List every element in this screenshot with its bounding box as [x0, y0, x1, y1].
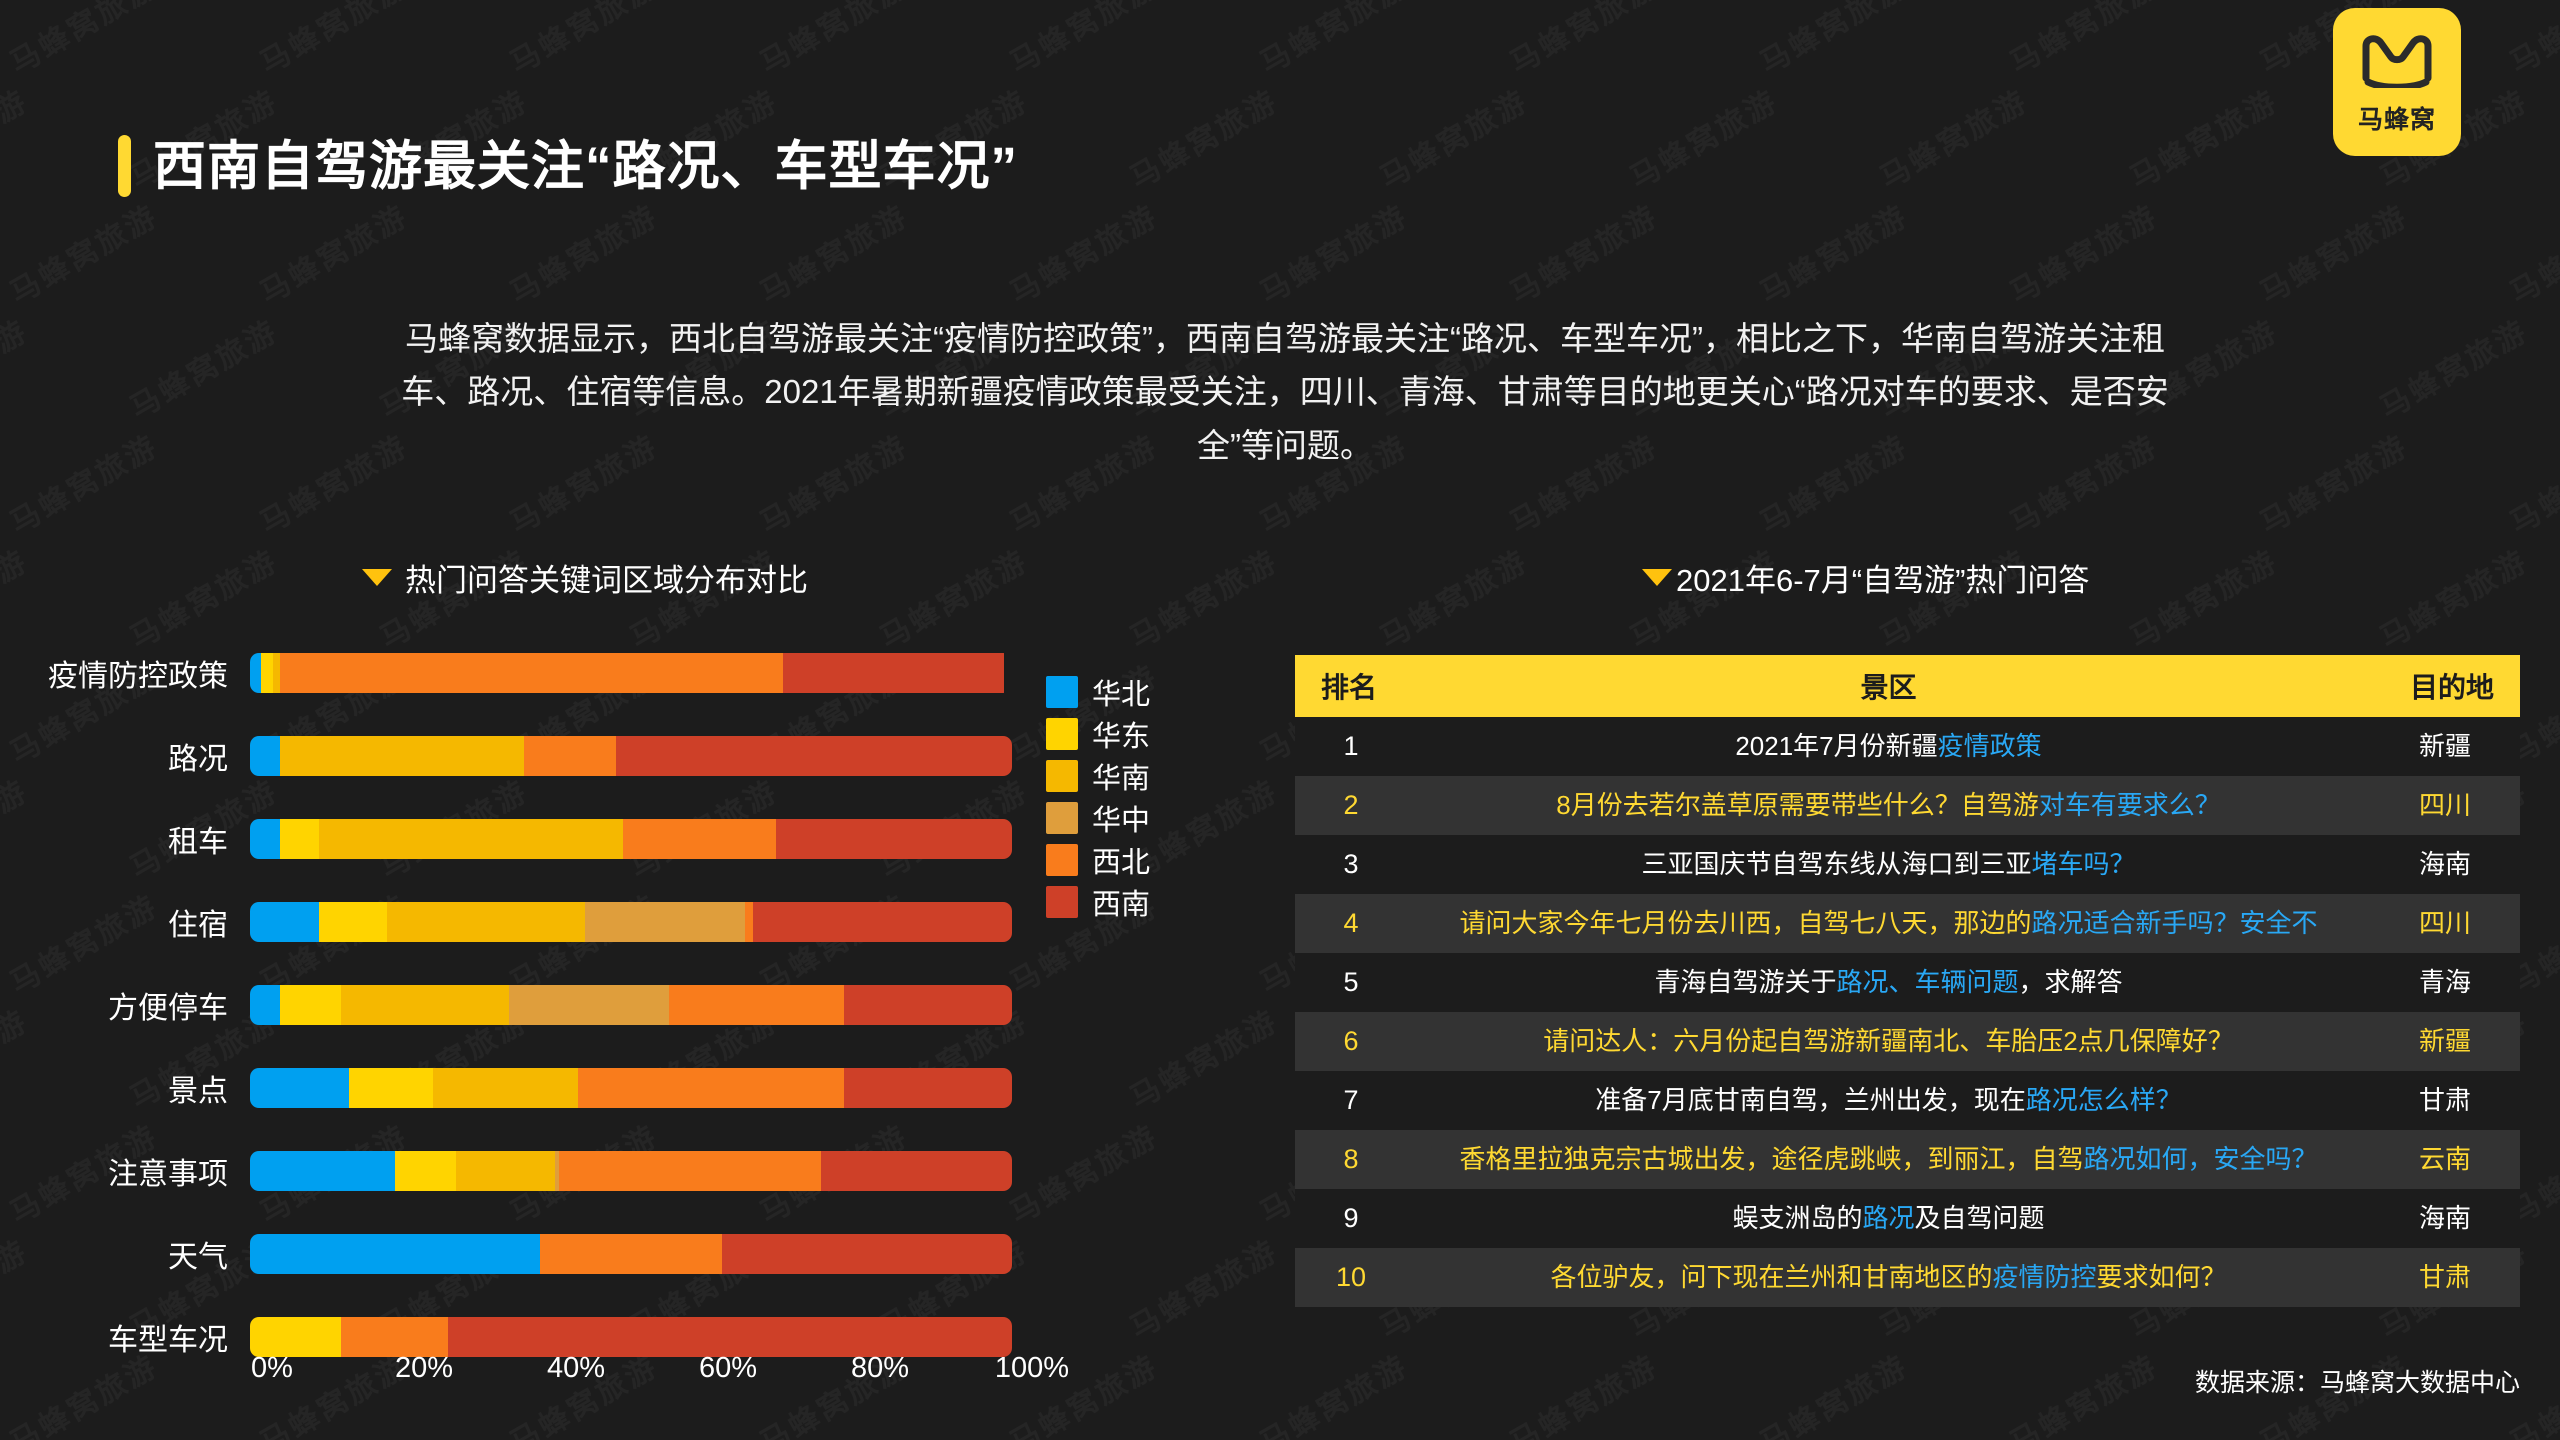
bar-segment-西南: [753, 902, 1012, 942]
table-header-row: 排名 景区 目的地: [1295, 655, 2520, 717]
cell-destination: 四川: [2370, 909, 2520, 938]
keyword-highlight: 疫情政策: [1938, 731, 2042, 761]
question-text: 青海自驾游关于: [1654, 967, 1836, 997]
table-row[interactable]: 12021年7月份新疆疫情政策新疆: [1295, 717, 2520, 776]
bar-segment-西南: [776, 819, 1012, 859]
watermark-text: 马蜂窝旅游: [1120, 77, 1285, 198]
bar-segment-西南: [844, 1068, 1012, 1108]
bar-segment-西北: [669, 985, 844, 1025]
x-axis-tick-label: 100%: [995, 1352, 1069, 1385]
cell-question: 准备7月底甘南自驾，兰州出发，现在路况怎么样？: [1407, 1086, 2370, 1115]
table-row[interactable]: 9蜈支洲岛的路况及自驾问题海南: [1295, 1189, 2520, 1248]
watermark-text: 马蜂窝旅游: [1250, 0, 1415, 82]
mafengwo-logo: 马蜂窝: [2333, 8, 2461, 156]
bar-segment-华东: [250, 1317, 341, 1357]
bar-segment-华南: [433, 1068, 578, 1108]
bar-category-label: 疫情防控政策: [0, 651, 250, 695]
bar-track: [250, 819, 1012, 859]
legend-swatch: [1046, 718, 1078, 750]
watermark-text: 马蜂窝旅游: [0, 422, 165, 543]
chart-section-header: 热门问答关键词区域分布对比: [362, 555, 808, 600]
triangle-down-icon: [1642, 569, 1672, 586]
legend-swatch: [1046, 760, 1078, 792]
keyword-highlight: 路况适合新手吗？安全不: [2032, 908, 2318, 938]
watermark-text: 马蜂窝旅游: [2500, 422, 2560, 543]
watermark-text: 马蜂窝旅游: [1620, 77, 1785, 198]
bar-row: 方便停车: [0, 982, 1060, 1028]
watermark-text: 马蜂窝旅游: [750, 192, 915, 313]
keyword-highlight: 对车有要求么？: [2039, 790, 2221, 820]
cell-question: 青海自驾游关于路况、车辆问题，求解答: [1407, 968, 2370, 997]
bar-segment-西南: [722, 1234, 1012, 1274]
table-row[interactable]: 8香格里拉独克宗古城出发，途径虎跳峡，到丽江，自驾路况如何，安全吗？云南: [1295, 1130, 2520, 1189]
cell-destination: 海南: [2370, 850, 2520, 879]
bar-segment-西南: [783, 653, 1004, 693]
watermark-text: 马蜂窝旅游: [1870, 77, 2035, 198]
logo-wordmark: 马蜂窝: [2358, 100, 2436, 136]
bar-segment-华中: [585, 902, 745, 942]
bar-segment-华南: [273, 653, 281, 693]
cell-rank: 4: [1295, 909, 1407, 939]
bar-track: [250, 736, 1012, 776]
watermark-text: 马蜂窝旅游: [500, 0, 665, 82]
cell-question: 请问大家今年七月份去川西，自驾七八天，那边的路况适合新手吗？安全不: [1407, 909, 2370, 938]
watermark-text: 马蜂窝旅游: [2120, 537, 2285, 658]
legend-item-华东[interactable]: 华东: [1046, 713, 1150, 755]
watermark-text: 马蜂窝旅游: [1750, 192, 1915, 313]
cell-destination: 四川: [2370, 791, 2520, 820]
watermark-text: 马蜂窝旅游: [2250, 192, 2415, 313]
watermark-text: 马蜂窝旅游: [120, 307, 285, 428]
watermark-text: 马蜂窝旅游: [1500, 0, 1665, 82]
watermark-text: 马蜂窝旅游: [2250, 422, 2415, 543]
bar-segment-华北: [250, 1068, 349, 1108]
watermark-text: 马蜂窝旅游: [2000, 0, 2165, 82]
x-axis-tick-label: 20%: [395, 1352, 453, 1385]
watermark-text: 马蜂窝旅游: [2000, 192, 2165, 313]
bar-segment-华东: [395, 1151, 456, 1191]
cell-question: 三亚国庆节自驾东线从海口到三亚堵车吗？: [1407, 850, 2370, 879]
question-text: 三亚国庆节自驾东线从海口到三亚: [1641, 849, 2031, 879]
bar-segment-华南: [456, 1151, 555, 1191]
legend-label: 华中: [1092, 797, 1150, 839]
watermark-text: 马蜂窝旅游: [1370, 537, 1535, 658]
bar-segment-西北: [559, 1151, 822, 1191]
bar-row: 注意事项: [0, 1148, 1060, 1194]
cell-destination: 青海: [2370, 968, 2520, 997]
cell-destination: 新疆: [2370, 732, 2520, 761]
table-row[interactable]: 3三亚国庆节自驾东线从海口到三亚堵车吗？海南: [1295, 835, 2520, 894]
x-axis-tick-label: 60%: [699, 1352, 757, 1385]
cell-question: 各位驴友，问下现在兰州和甘南地区的疫情防控要求如何？: [1407, 1263, 2370, 1292]
intro-paragraph: 马蜂窝数据显示，西北自驾游最关注“疫情防控政策”，西南自驾游最关注“路况、车型车…: [400, 312, 2170, 472]
question-text: 8月份去若尔盖草原需要带些什么？自驾游: [1556, 790, 2038, 820]
bar-segment-华东: [261, 653, 272, 693]
keyword-highlight: 路况如何，安全吗？: [2084, 1144, 2318, 1174]
bar-track: [250, 985, 1012, 1025]
bar-segment-西南: [616, 736, 1012, 776]
watermark-text: 马蜂窝旅游: [250, 192, 415, 313]
cell-destination: 甘肃: [2370, 1086, 2520, 1115]
bar-segment-西南: [844, 985, 1012, 1025]
bar-category-label: 天气: [0, 1232, 250, 1276]
bar-category-label: 住宿: [0, 900, 250, 944]
cell-destination: 海南: [2370, 1204, 2520, 1233]
bar-category-label: 景点: [0, 1066, 250, 1110]
data-source-note: 数据来源：马蜂窝大数据中心: [2195, 1363, 2520, 1399]
table-section-title: 2021年6-7月“自驾游”热门问答: [1676, 555, 2089, 600]
bar-category-label: 路况: [0, 734, 250, 778]
watermark-text: 马蜂窝旅游: [1250, 192, 1415, 313]
watermark-text: 马蜂窝旅游: [2000, 1342, 2165, 1440]
x-axis-tick-label: 0%: [251, 1352, 293, 1385]
table-row[interactable]: 6请问达人：六月份起自驾游新疆南北、车胎压2点几保障好？新疆: [1295, 1012, 2520, 1071]
bar-segment-华北: [250, 819, 280, 859]
question-text: 准备7月底甘南自驾，兰州出发，现在: [1595, 1085, 2025, 1115]
watermark-text: 马蜂窝旅游: [500, 192, 665, 313]
legend-swatch: [1046, 886, 1078, 918]
table-row[interactable]: 5青海自驾游关于路况、车辆问题，求解答青海: [1295, 953, 2520, 1012]
watermark-text: 马蜂窝旅游: [1000, 0, 1165, 82]
cell-rank: 10: [1295, 1263, 1407, 1293]
bar-segment-华东: [280, 819, 318, 859]
bar-segment-西北: [540, 1234, 723, 1274]
cell-rank: 2: [1295, 791, 1407, 821]
bar-segment-西北: [524, 736, 615, 776]
keyword-highlight: 路况怎么样？: [2026, 1085, 2182, 1115]
table-row[interactable]: 28月份去若尔盖草原需要带些什么？自驾游对车有要求么？四川: [1295, 776, 2520, 835]
watermark-text: 马蜂窝旅游: [250, 0, 415, 82]
keyword-highlight: 堵车吗？: [2032, 849, 2136, 879]
question-text: ，求解答: [2019, 967, 2123, 997]
bar-segment-华北: [250, 1234, 540, 1274]
bar-row: 住宿: [0, 899, 1060, 945]
question-text: 请问达人：六月份起自驾游新疆南北、车胎压2点几保障好？: [1543, 1026, 2233, 1056]
bar-track: [250, 1317, 1012, 1357]
triangle-down-icon: [362, 569, 392, 586]
question-text: 2021年7月份新疆: [1735, 731, 1937, 761]
bar-segment-华南: [341, 985, 509, 1025]
bar-category-label: 注意事项: [0, 1149, 250, 1193]
cell-rank: 6: [1295, 1027, 1407, 1057]
bar-segment-西南: [821, 1151, 1012, 1191]
watermark-text: 马蜂窝旅游: [0, 192, 165, 313]
bar-track: [250, 1068, 1012, 1108]
column-header-rank: 排名: [1295, 666, 1407, 706]
legend-label: 华北: [1092, 671, 1150, 713]
watermark-text: 马蜂窝旅游: [120, 537, 285, 658]
cell-question: 香格里拉独克宗古城出发，途径虎跳峡，到丽江，自驾路况如何，安全吗？: [1407, 1145, 2370, 1174]
question-text: 请问大家今年七月份去川西，自驾七八天，那边的: [1459, 908, 2031, 938]
cell-question: 8月份去若尔盖草原需要带些什么？自驾游对车有要求么？: [1407, 791, 2370, 820]
table-row[interactable]: 4请问大家今年七月份去川西，自驾七八天，那边的路况适合新手吗？安全不四川: [1295, 894, 2520, 953]
table-row[interactable]: 7准备7月底甘南自驾，兰州出发，现在路况怎么样？甘肃: [1295, 1071, 2520, 1130]
mafengwo-crown-m-icon: [2360, 32, 2434, 88]
cell-destination: 云南: [2370, 1145, 2520, 1174]
bar-track: [250, 1234, 1012, 1274]
x-axis-tick-label: 40%: [547, 1352, 605, 1385]
bar-segment-华东: [319, 902, 388, 942]
bar-segment-华北: [250, 1151, 395, 1191]
question-text: 要求如何？: [2097, 1262, 2227, 1292]
legend-label: 华东: [1092, 713, 1150, 755]
watermark-text: 马蜂窝旅游: [2500, 192, 2560, 313]
legend-item-华北[interactable]: 华北: [1046, 671, 1150, 713]
legend-item-华中[interactable]: 华中: [1046, 797, 1150, 839]
cell-question: 请问达人：六月份起自驾游新疆南北、车胎压2点几保障好？: [1407, 1027, 2370, 1056]
legend-swatch: [1046, 844, 1078, 876]
watermark-text: 马蜂窝旅游: [2500, 0, 2560, 82]
question-text: 及自驾问题: [1915, 1203, 2045, 1233]
question-text: 蜈支洲岛的: [1732, 1203, 1862, 1233]
cell-destination: 新疆: [2370, 1027, 2520, 1056]
keyword-highlight: 路况、车辆问题: [1836, 967, 2018, 997]
bar-segment-西北: [745, 902, 753, 942]
bar-segment-华中: [509, 985, 669, 1025]
chart-legend: 华北华东华南华中西北西南: [1046, 671, 1150, 923]
bar-segment-华北: [250, 736, 280, 776]
bar-segment-华东: [349, 1068, 433, 1108]
cell-rank: 8: [1295, 1145, 1407, 1175]
page-title: 西南自驾游最关注“路况、车型车况”: [118, 135, 1018, 197]
bar-segment-华南: [280, 736, 524, 776]
bar-segment-华北: [250, 902, 319, 942]
bar-segment-西北: [341, 1317, 448, 1357]
watermark-text: 马蜂窝旅游: [2120, 77, 2285, 198]
keyword-highlight: 路况: [1862, 1203, 1914, 1233]
table-body: 12021年7月份新疆疫情政策新疆28月份去若尔盖草原需要带些什么？自驾游对车有…: [1295, 717, 2520, 1307]
cell-question: 蜈支洲岛的路况及自驾问题: [1407, 1204, 2370, 1233]
bar-segment-华南: [319, 819, 624, 859]
watermark-text: 马蜂窝旅游: [1750, 0, 1915, 82]
chart-section-title: 热门问答关键词区域分布对比: [405, 555, 808, 600]
bar-track: [250, 902, 1012, 942]
bar-category-label: 租车: [0, 817, 250, 861]
infographic-page: 马蜂窝旅游马蜂窝旅游马蜂窝旅游马蜂窝旅游马蜂窝旅游马蜂窝旅游马蜂窝旅游马蜂窝旅游…: [0, 0, 2560, 1440]
legend-swatch: [1046, 802, 1078, 834]
table-row[interactable]: 10各位驴友，问下现在兰州和甘南地区的疫情防控要求如何？甘肃: [1295, 1248, 2520, 1307]
bar-segment-华南: [387, 902, 585, 942]
title-text: 西南自驾游最关注“路况、车型车况”: [153, 140, 1018, 193]
bar-category-label: 方便停车: [0, 983, 250, 1027]
watermark-text: 马蜂窝旅游: [0, 0, 165, 82]
cell-rank: 5: [1295, 968, 1407, 998]
bar-track: [250, 1151, 1012, 1191]
bar-segment-西南: [448, 1317, 1012, 1357]
watermark-text: 马蜂窝旅游: [870, 537, 1035, 658]
bar-track: [250, 653, 1012, 693]
bar-segment-西北: [280, 653, 783, 693]
cell-rank: 3: [1295, 850, 1407, 880]
question-text: 香格里拉独克宗古城出发，途径虎跳峡，到丽江，自驾: [1459, 1144, 2083, 1174]
legend-label: 西南: [1092, 881, 1150, 923]
legend-item-西北[interactable]: 西北: [1046, 839, 1150, 881]
bar-row: 路况: [0, 733, 1060, 779]
column-header-spot: 景区: [1407, 666, 2370, 706]
bar-row: 租车: [0, 816, 1060, 862]
watermark-text: 马蜂窝旅游: [250, 422, 415, 543]
cell-rank: 9: [1295, 1204, 1407, 1234]
keyword-highlight: 疫情防控: [1992, 1262, 2096, 1292]
question-text: 各位驴友，问下现在兰州和甘南地区的: [1550, 1262, 1992, 1292]
watermark-text: 马蜂窝旅游: [2370, 307, 2535, 428]
watermark-text: 马蜂窝旅游: [1500, 1342, 1665, 1440]
cell-question: 2021年7月份新疆疫情政策: [1407, 732, 2370, 761]
bar-segment-西北: [623, 819, 775, 859]
watermark-text: 马蜂窝旅游: [1000, 192, 1165, 313]
x-axis-tick-label: 80%: [851, 1352, 909, 1385]
watermark-text: 马蜂窝旅游: [750, 0, 915, 82]
bar-segment-华北: [250, 653, 261, 693]
watermark-text: 马蜂窝旅游: [0, 77, 35, 198]
table-section-header: 2021年6-7月“自驾游”热门问答: [1642, 555, 2089, 600]
legend-item-西南[interactable]: 西南: [1046, 881, 1150, 923]
legend-swatch: [1046, 676, 1078, 708]
watermark-text: 马蜂窝旅游: [1250, 1342, 1415, 1440]
watermark-text: 马蜂窝旅游: [2370, 537, 2535, 658]
watermark-text: 马蜂窝旅游: [1120, 537, 1285, 658]
bar-segment-西北: [578, 1068, 845, 1108]
bar-row: 疫情防控政策: [0, 650, 1060, 696]
legend-label: 华南: [1092, 755, 1150, 797]
legend-item-华南[interactable]: 华南: [1046, 755, 1150, 797]
cell-destination: 甘肃: [2370, 1263, 2520, 1292]
chart-x-axis: 0%20%40%60%80%100%: [0, 1352, 1100, 1392]
title-accent-bar: [118, 135, 131, 197]
bar-row: 景点: [0, 1065, 1060, 1111]
cell-rank: 7: [1295, 1086, 1407, 1116]
cell-rank: 1: [1295, 732, 1407, 762]
watermark-text: 马蜂窝旅游: [0, 537, 35, 658]
hot-qa-table: 排名 景区 目的地 12021年7月份新疆疫情政策新疆28月份去若尔盖草原需要带…: [1295, 655, 2520, 1307]
legend-label: 西北: [1092, 839, 1150, 881]
watermark-text: 马蜂窝旅游: [1750, 1342, 1915, 1440]
watermark-text: 马蜂窝旅游: [0, 307, 35, 428]
bar-segment-华北: [250, 985, 280, 1025]
watermark-text: 马蜂窝旅游: [1500, 192, 1665, 313]
column-header-dest: 目的地: [2370, 666, 2520, 706]
stacked-bar-chart: 疫情防控政策路况租车住宿方便停车景点注意事项天气车型车况: [0, 650, 1200, 1410]
bar-row: 天气: [0, 1231, 1060, 1277]
watermark-text: 马蜂窝旅游: [1370, 77, 1535, 198]
bar-segment-华东: [280, 985, 341, 1025]
